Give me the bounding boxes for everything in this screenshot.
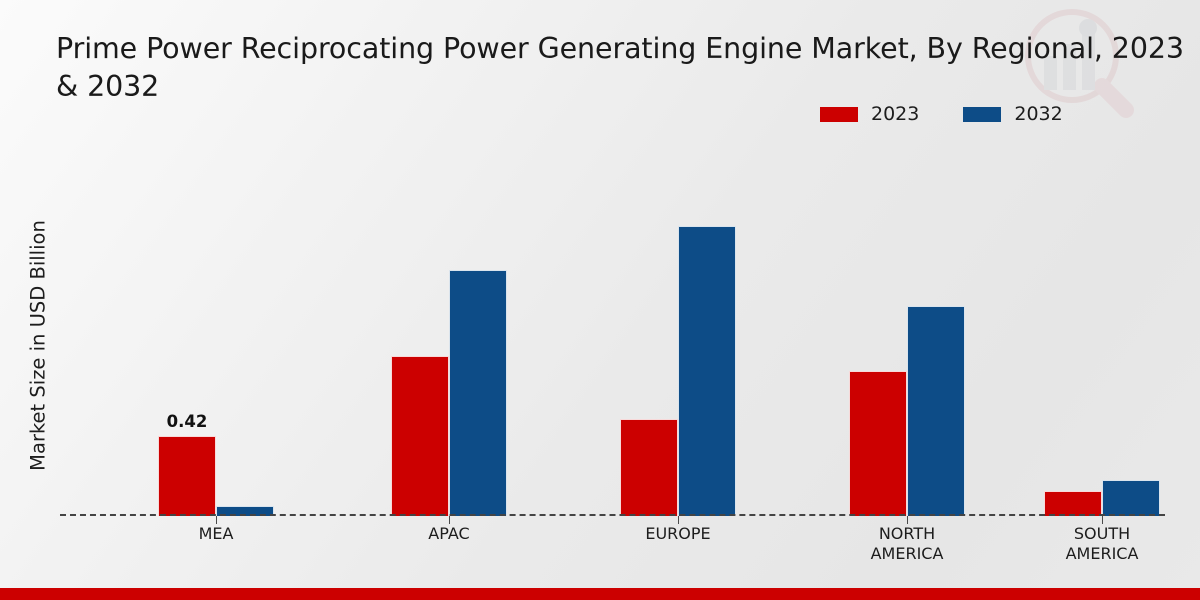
bars-row: [391, 150, 507, 516]
bars-row: [1044, 150, 1160, 516]
bars-row: [849, 150, 965, 516]
chart-legend: 2023 2032: [820, 103, 1063, 125]
x-axis-tick: [1102, 516, 1103, 524]
y-axis-title: Market Size in USD Billion: [27, 166, 50, 526]
bar-apac-2032[interactable]: [449, 270, 507, 516]
bar-south-america-2032[interactable]: [1102, 480, 1160, 516]
x-axis-label: APAC: [359, 524, 539, 544]
legend-entry-2023[interactable]: 2023: [820, 103, 919, 125]
bar-europe-2023[interactable]: [620, 419, 678, 516]
x-axis-tick: [907, 516, 908, 524]
bar-group: NORTH AMERICA: [849, 150, 965, 516]
chart-title: Prime Power Reciprocating Power Generati…: [56, 30, 1200, 106]
bar-group: EUROPE: [620, 150, 736, 516]
legend-entry-2032[interactable]: 2032: [963, 103, 1062, 125]
x-axis-label: SOUTH AMERICA: [1012, 524, 1192, 564]
bar-mea-2023[interactable]: [158, 436, 216, 516]
x-axis-tick: [216, 516, 217, 524]
bar-apac-2023[interactable]: [391, 356, 449, 516]
bar-value-label: 0.42: [137, 412, 237, 431]
bar-group: SOUTH AMERICA: [1044, 150, 1160, 516]
bar-north-america-2023[interactable]: [849, 371, 907, 516]
legend-label-2032: 2032: [1014, 103, 1062, 125]
x-axis-label: EUROPE: [588, 524, 768, 544]
chart-figure: Prime Power Reciprocating Power Generati…: [0, 0, 1200, 600]
bars-row: [158, 150, 274, 516]
bar-group: APAC: [391, 150, 507, 516]
legend-label-2023: 2023: [871, 103, 919, 125]
x-axis-label: MEA: [126, 524, 306, 544]
legend-swatch-2032: [963, 107, 1001, 122]
bar-group: MEA: [158, 150, 274, 516]
x-axis-baseline: [60, 514, 1165, 516]
x-axis-tick: [678, 516, 679, 524]
plot-area: MEAAPACEUROPENORTH AMERICASOUTH AMERICA0…: [60, 150, 1165, 516]
bars-row: [620, 150, 736, 516]
bar-south-america-2023[interactable]: [1044, 491, 1102, 516]
legend-swatch-2023: [820, 107, 858, 122]
x-axis-tick: [449, 516, 450, 524]
bar-north-america-2032[interactable]: [907, 306, 965, 516]
x-axis-label: NORTH AMERICA: [817, 524, 997, 564]
bottom-accent-band: [0, 588, 1200, 600]
bar-europe-2032[interactable]: [678, 226, 736, 516]
